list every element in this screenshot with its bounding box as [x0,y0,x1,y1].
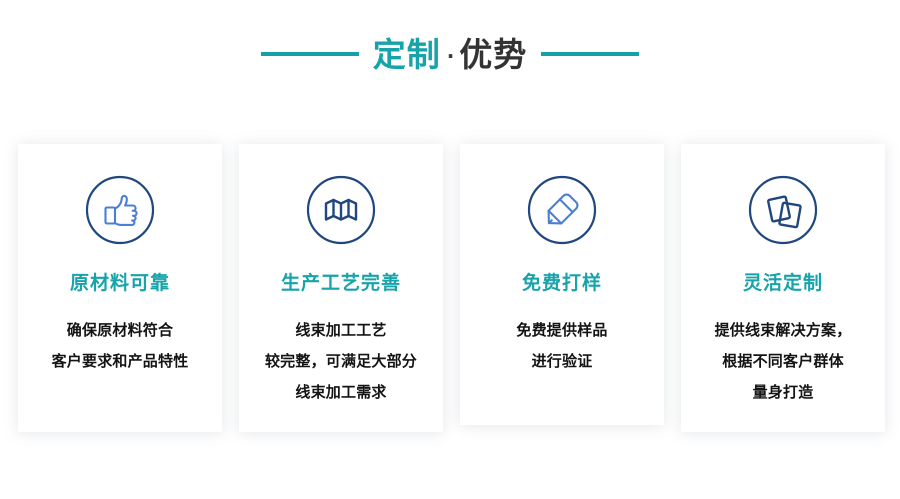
card-title: 免费打样 [468,272,656,295]
feature-card-flexible-custom[interactable]: 灵活定制 提供线束解决方案， 根据不同客户群体 量身打造 [681,144,885,432]
card-body: 确保原材料符合 客户要求和产品特性 [26,315,214,377]
card-body-line: 较完整，可满足大部分 [247,346,435,377]
section-heading: 定制 · 优势 [0,30,900,78]
card-body-line: 进行验证 [468,346,656,377]
card-body-line: 客户要求和产品特性 [26,346,214,377]
heading-accent-text: 定制 [373,38,441,71]
heading-separator: · [441,46,460,66]
heading-main-text: 优势 [459,38,527,71]
card-body-line: 根据不同客户群体 [689,346,877,377]
folded-map-icon [305,174,377,246]
heading-rule-right [541,52,639,56]
card-body-line: 提供线束解决方案， [689,315,877,346]
feature-card-row: 原材料可靠 确保原材料符合 客户要求和产品特性 生产工艺完善 线束加工工艺 较完… [18,144,885,432]
heading-text: 定制 · 优势 [373,38,528,71]
card-body: 线束加工工艺 较完整，可满足大部分 线束加工需求 [247,315,435,408]
thumbs-up-icon [84,174,156,246]
card-body: 免费提供样品 进行验证 [468,315,656,377]
card-title: 原材料可靠 [26,272,214,295]
card-body-line: 免费提供样品 [468,315,656,346]
card-title: 生产工艺完善 [247,272,435,295]
card-body-line: 线束加工工艺 [247,315,435,346]
card-body: 提供线束解决方案， 根据不同客户群体 量身打造 [689,315,877,408]
card-body-line: 量身打造 [689,377,877,408]
feature-card-raw-material[interactable]: 原材料可靠 确保原材料符合 客户要求和产品特性 [18,144,222,432]
heading-rule-left [261,52,359,56]
pencil-icon [526,174,598,246]
feature-card-free-sample[interactable]: 免费打样 免费提供样品 进行验证 [460,144,664,425]
card-body-line: 确保原材料符合 [26,315,214,346]
feature-card-process[interactable]: 生产工艺完善 线束加工工艺 较完整，可满足大部分 线束加工需求 [239,144,443,432]
card-body-line: 线束加工需求 [247,377,435,408]
card-title: 灵活定制 [689,272,877,295]
stacked-cards-icon [747,174,819,246]
